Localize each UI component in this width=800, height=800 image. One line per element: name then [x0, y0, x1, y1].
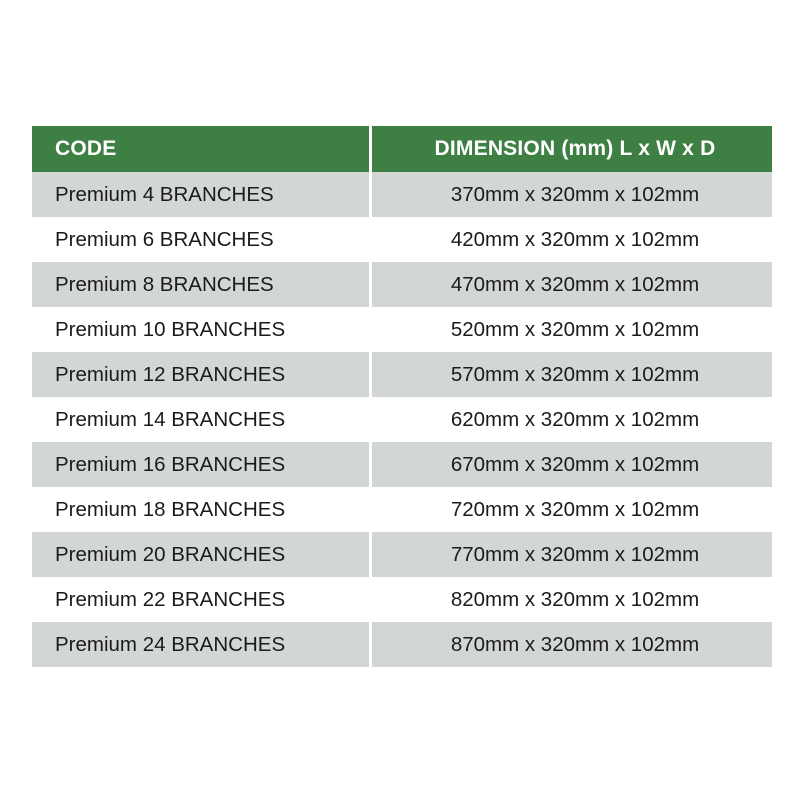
table-row: Premium 14 BRANCHES620mm x 320mm x 102mm [32, 397, 772, 442]
table-row: Premium 22 BRANCHES820mm x 320mm x 102mm [32, 577, 772, 622]
cell-code: Premium 10 BRANCHES [32, 307, 369, 352]
cell-code: Premium 22 BRANCHES [32, 577, 369, 622]
table-row: Premium 6 BRANCHES420mm x 320mm x 102mm [32, 217, 772, 262]
cell-code: Premium 8 BRANCHES [32, 262, 369, 307]
column-header-code: CODE [32, 126, 369, 172]
table-row: Premium 4 BRANCHES370mm x 320mm x 102mm [32, 172, 772, 217]
cell-dimension: 520mm x 320mm x 102mm [372, 307, 772, 352]
table-row: Premium 20 BRANCHES770mm x 320mm x 102mm [32, 532, 772, 577]
cell-dimension: 770mm x 320mm x 102mm [372, 532, 772, 577]
cell-code: Premium 24 BRANCHES [32, 622, 369, 667]
specification-table: CODE DIMENSION (mm) L x W x D Premium 4 … [32, 126, 772, 667]
cell-dimension: 470mm x 320mm x 102mm [372, 262, 772, 307]
table-row: Premium 16 BRANCHES670mm x 320mm x 102mm [32, 442, 772, 487]
cell-code: Premium 20 BRANCHES [32, 532, 369, 577]
cell-code: Premium 12 BRANCHES [32, 352, 369, 397]
table-row: Premium 8 BRANCHES470mm x 320mm x 102mm [32, 262, 772, 307]
cell-dimension: 620mm x 320mm x 102mm [372, 397, 772, 442]
cell-dimension: 870mm x 320mm x 102mm [372, 622, 772, 667]
cell-dimension: 370mm x 320mm x 102mm [372, 172, 772, 217]
cell-dimension: 820mm x 320mm x 102mm [372, 577, 772, 622]
cell-code: Premium 18 BRANCHES [32, 487, 369, 532]
cell-dimension: 420mm x 320mm x 102mm [372, 217, 772, 262]
cell-code: Premium 16 BRANCHES [32, 442, 369, 487]
table-body: Premium 4 BRANCHES370mm x 320mm x 102mmP… [32, 172, 772, 667]
cell-dimension: 570mm x 320mm x 102mm [372, 352, 772, 397]
column-header-dimension: DIMENSION (mm) L x W x D [372, 126, 772, 172]
cell-code: Premium 14 BRANCHES [32, 397, 369, 442]
table-row: Premium 24 BRANCHES870mm x 320mm x 102mm [32, 622, 772, 667]
table-row: Premium 10 BRANCHES520mm x 320mm x 102mm [32, 307, 772, 352]
cell-dimension: 720mm x 320mm x 102mm [372, 487, 772, 532]
table-row: Premium 18 BRANCHES720mm x 320mm x 102mm [32, 487, 772, 532]
cell-code: Premium 6 BRANCHES [32, 217, 369, 262]
cell-code: Premium 4 BRANCHES [32, 172, 369, 217]
table-header-row: CODE DIMENSION (mm) L x W x D [32, 126, 772, 172]
cell-dimension: 670mm x 320mm x 102mm [372, 442, 772, 487]
table-row: Premium 12 BRANCHES570mm x 320mm x 102mm [32, 352, 772, 397]
